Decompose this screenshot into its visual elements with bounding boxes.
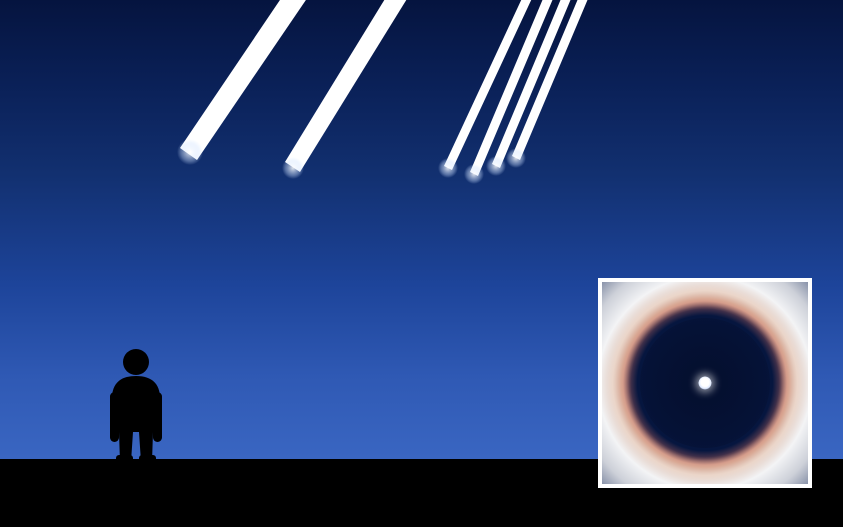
sun-disc-icon	[699, 377, 712, 390]
halo-photo-inner	[602, 282, 808, 484]
incoming-white-sunlight	[180, 0, 590, 176]
refraction-highlight-spots	[177, 139, 526, 184]
halo-diagram-figure	[0, 0, 843, 527]
halo-photograph	[598, 278, 812, 488]
observer-silhouette	[110, 349, 162, 470]
